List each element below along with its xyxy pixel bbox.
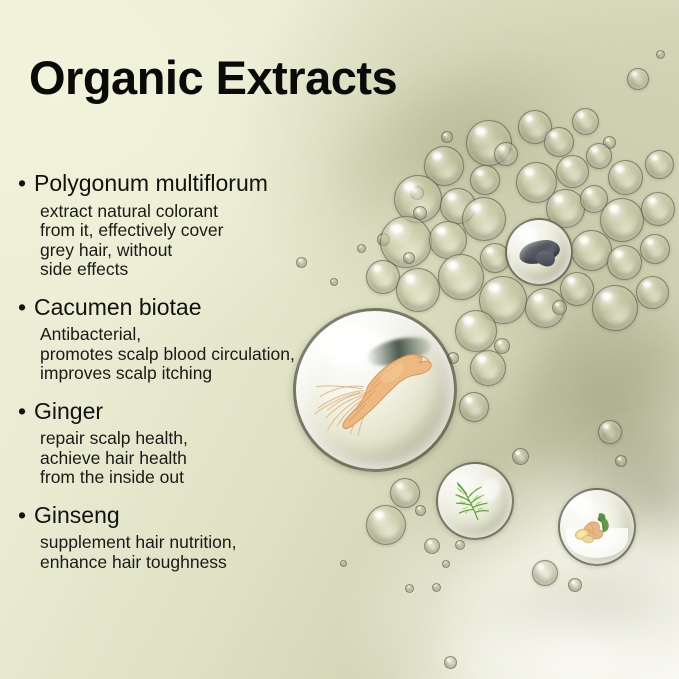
poster-canvas: Organic Extracts • Polygonum multiflorum… <box>0 0 679 679</box>
bubble <box>641 192 675 226</box>
ingredient-item-ginger: • Ginger repair scalp health, achieve ha… <box>18 398 348 488</box>
bubble <box>441 131 453 143</box>
bubble <box>627 68 649 90</box>
bubble <box>470 165 500 195</box>
bubble <box>415 505 426 516</box>
bubble <box>607 245 642 280</box>
ginger-root-icon <box>564 505 629 554</box>
bubble <box>592 285 638 331</box>
bubble <box>532 560 558 586</box>
ingredient-name: Cacumen biotae <box>34 294 202 322</box>
bubble <box>424 538 440 554</box>
bubble <box>403 252 415 264</box>
ingredient-name: Ginger <box>34 398 103 426</box>
ingredient-item-ginseng: • Ginseng supplement hair nutrition, enh… <box>18 502 348 573</box>
bubble <box>512 448 529 465</box>
bubble <box>438 254 484 300</box>
bubble <box>544 127 574 157</box>
bubble <box>396 268 440 312</box>
fluid-swirl-bottom <box>457 535 679 679</box>
bullet-icon: • <box>18 294 34 322</box>
bubble-highlight <box>570 497 592 512</box>
bubble <box>615 455 627 467</box>
bubble <box>608 160 643 195</box>
bubble <box>494 338 510 354</box>
bubble <box>636 276 669 309</box>
bubble <box>390 478 420 508</box>
ingredient-name: Polygonum multiflorum <box>34 170 268 198</box>
bubble <box>586 143 612 169</box>
bubble <box>444 656 457 669</box>
bubble <box>656 50 665 59</box>
bubble <box>432 583 441 592</box>
bubble <box>572 108 599 135</box>
bubble <box>600 198 644 242</box>
content-bubble-polygonum <box>505 218 573 286</box>
bubble <box>357 244 366 253</box>
bubble <box>598 420 622 444</box>
bubble <box>455 540 465 550</box>
bubble <box>640 234 670 264</box>
bubble <box>413 206 427 220</box>
ingredient-description: extract natural colorant from it, effect… <box>40 202 348 280</box>
ingredient-heading: • Cacumen biotae <box>18 294 348 322</box>
bullet-icon: • <box>18 398 34 426</box>
bubble <box>405 584 414 593</box>
fluid-swirl-highlight-bottom <box>430 600 679 679</box>
bubble <box>568 578 582 592</box>
ingredient-item-polygonum-multiflorum: • Polygonum multiflorum extract natural … <box>18 170 348 280</box>
ingredient-heading: • Polygonum multiflorum <box>18 170 348 198</box>
ingredient-heading: • Ginseng <box>18 502 348 530</box>
bubble <box>459 392 489 422</box>
bubble <box>470 350 506 386</box>
ingredient-description: Antibacterial, promotes scalp blood circ… <box>40 325 348 384</box>
ingredient-list: • Polygonum multiflorum extract natural … <box>18 170 348 586</box>
page-title: Organic Extracts <box>29 52 397 104</box>
ingredient-heading: • Ginger <box>18 398 348 426</box>
bubble <box>645 150 674 179</box>
bullet-icon: • <box>18 170 34 198</box>
bubble <box>366 505 406 545</box>
bubble <box>571 230 612 271</box>
bubble-highlight <box>517 227 537 241</box>
bubble <box>442 560 450 568</box>
bubble <box>560 272 594 306</box>
bubble <box>366 260 400 294</box>
bullet-icon: • <box>18 502 34 530</box>
bubble <box>556 155 589 188</box>
ingredient-description: repair scalp health, achieve hair health… <box>40 429 348 488</box>
bubble <box>494 142 518 166</box>
ingredient-name: Ginseng <box>34 502 120 530</box>
content-bubble-ginger <box>558 488 636 566</box>
bubble <box>455 310 497 352</box>
ingredient-description: supplement hair nutrition, enhance hair … <box>40 533 348 572</box>
ingredient-item-cacumen-biotae: • Cacumen biotae Antibacterial, promotes… <box>18 294 348 384</box>
content-bubble-cacumen-biotae <box>436 462 514 540</box>
bubble <box>462 197 506 241</box>
bubble <box>552 300 567 315</box>
